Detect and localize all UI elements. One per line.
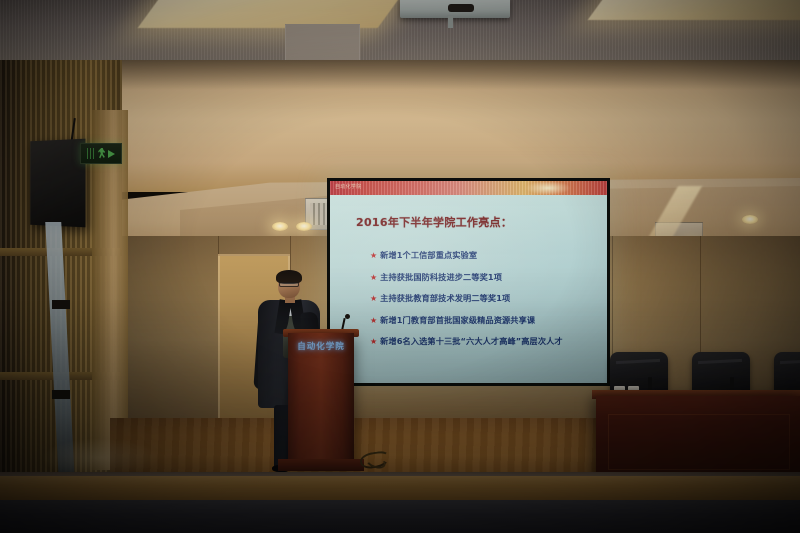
projection-screen: 自动化学院 2016年下半年学院工作亮点： ★ 新增1个工信部重点实验室 ★ 主… (330, 181, 607, 383)
list-item: ★ 新增6名入选第十三批“六大人才高峰”高层次人才 (370, 335, 600, 347)
podium-base (278, 459, 364, 471)
slide-banner-strip: 自动化学院 (330, 181, 607, 195)
wall-loudspeaker (30, 139, 85, 228)
downlight-icon (742, 215, 758, 224)
bullet-text: 主持获批国防科技进步二等奖1项 (380, 271, 502, 283)
projector-mount (448, 16, 453, 28)
panel-table (596, 396, 800, 482)
microphone-head-icon (345, 314, 350, 319)
star-icon: ★ (370, 338, 377, 346)
left-wall-column (92, 110, 128, 470)
chair-highlight (780, 359, 800, 364)
slide-title: 2016年下半年学院工作亮点： (356, 214, 512, 230)
slide-bullet-list: ★ 新增1个工信部重点实验室 ★ 主持获批国防科技进步二等奖1项 ★ 主持获批教… (370, 249, 600, 357)
star-icon: ★ (370, 252, 377, 260)
downlight-icon (296, 222, 312, 231)
banner-label: 自动化学院 (335, 183, 362, 190)
podium (288, 333, 354, 464)
chair-highlight (698, 359, 742, 364)
ceiling-light-trough-left (138, 0, 403, 28)
stage-front-edge (0, 476, 800, 502)
list-item: ★ 新增1门教育部首批国家级精品资源共享课 (370, 314, 600, 326)
bullet-text: 新增6名入选第十三批“六大人才高峰”高层次人才 (380, 335, 563, 347)
exit-sign (80, 143, 122, 164)
bullet-text: 新增1门教育部首批国家级精品资源共享课 (380, 314, 535, 326)
chair-highlight (616, 359, 660, 364)
podium-label: 自动化学院 (288, 340, 354, 352)
conference-hall-photo: 自动化学院 2016年下半年学院工作亮点： ★ 新增1个工信部重点实验室 ★ 主… (0, 0, 800, 533)
star-icon: ★ (370, 295, 377, 303)
banner-highlight (525, 181, 571, 195)
list-item: ★ 新增1个工信部重点实验室 (370, 249, 600, 261)
strip-mullion (52, 300, 70, 309)
table-front-panel (608, 414, 790, 470)
glasses-icon (279, 282, 299, 287)
star-icon: ★ (370, 274, 377, 282)
list-item: ★ 主持获批教育部技术发明二等奖1项 (370, 292, 600, 304)
list-item: ★ 主持获批国防科技进步二等奖1项 (370, 271, 600, 283)
running-person-icon (98, 148, 106, 159)
projector-lens-icon (448, 4, 474, 12)
bullet-text: 主持获批教育部技术发明二等奖1项 (380, 292, 510, 304)
strip-mullion (52, 390, 70, 399)
foreground-floor (0, 500, 800, 533)
arrow-right-icon (108, 150, 115, 158)
exit-sign-text-glyph (87, 148, 96, 159)
star-icon: ★ (370, 317, 377, 325)
ceiling-light-trough-right (588, 0, 800, 20)
bullet-text: 新增1个工信部重点实验室 (380, 249, 477, 261)
downlight-icon (272, 222, 288, 231)
projector-icon (400, 0, 510, 18)
